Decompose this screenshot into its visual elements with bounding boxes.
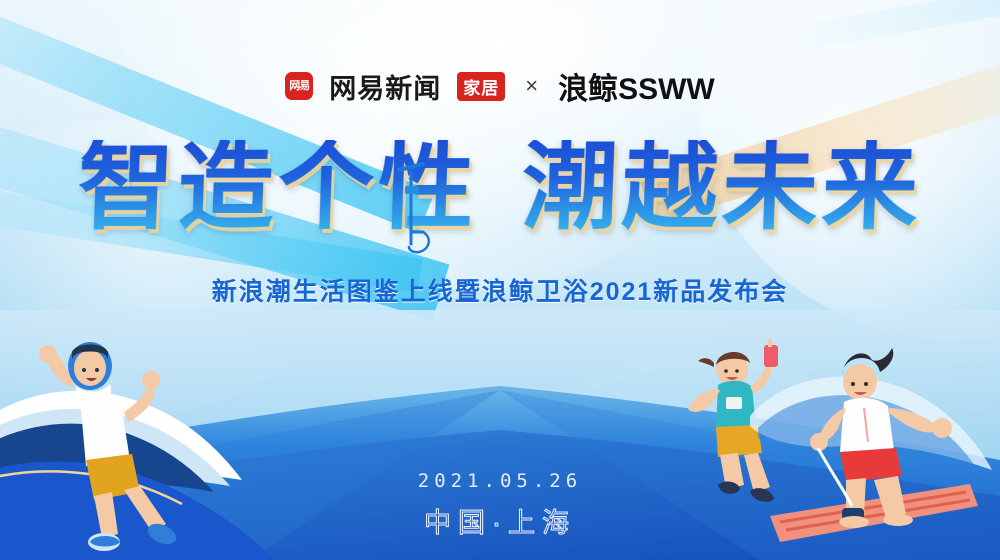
headline-part-2: 潮越未来 xyxy=(521,140,924,236)
event-info: 2021.05.26 中国·上海 xyxy=(0,470,1000,540)
subtitle-text: 新浪潮生活图鉴上线暨浪鲸卫浴2021新品发布会 xyxy=(212,278,789,306)
poster-canvas: 网易 网易新闻 家居 × 浪鲸SSWW 智造个性 潮越未来 新浪潮生活图鉴上线暨… xyxy=(0,0,1000,560)
event-location: 中国·上海 xyxy=(0,501,1000,540)
partner-brand-label: 浪鲸SSWW xyxy=(558,64,715,108)
netease-news-label: 网易新闻 xyxy=(329,67,441,106)
brand-logo-row: 网易 网易新闻 家居 × 浪鲸SSWW xyxy=(0,64,1000,108)
event-date: 2021.05.26 xyxy=(0,470,1000,492)
home-channel-tag: 家居 xyxy=(457,72,505,101)
subtitle: 新浪潮生活图鉴上线暨浪鲸卫浴2021新品发布会 xyxy=(0,272,1000,308)
shower-fixture-icon xyxy=(389,160,435,256)
cross-separator-icon: × xyxy=(525,73,538,99)
headline: 智造个性 潮越未来 xyxy=(0,140,1000,236)
netease-logo-badge: 网易 xyxy=(285,72,313,100)
